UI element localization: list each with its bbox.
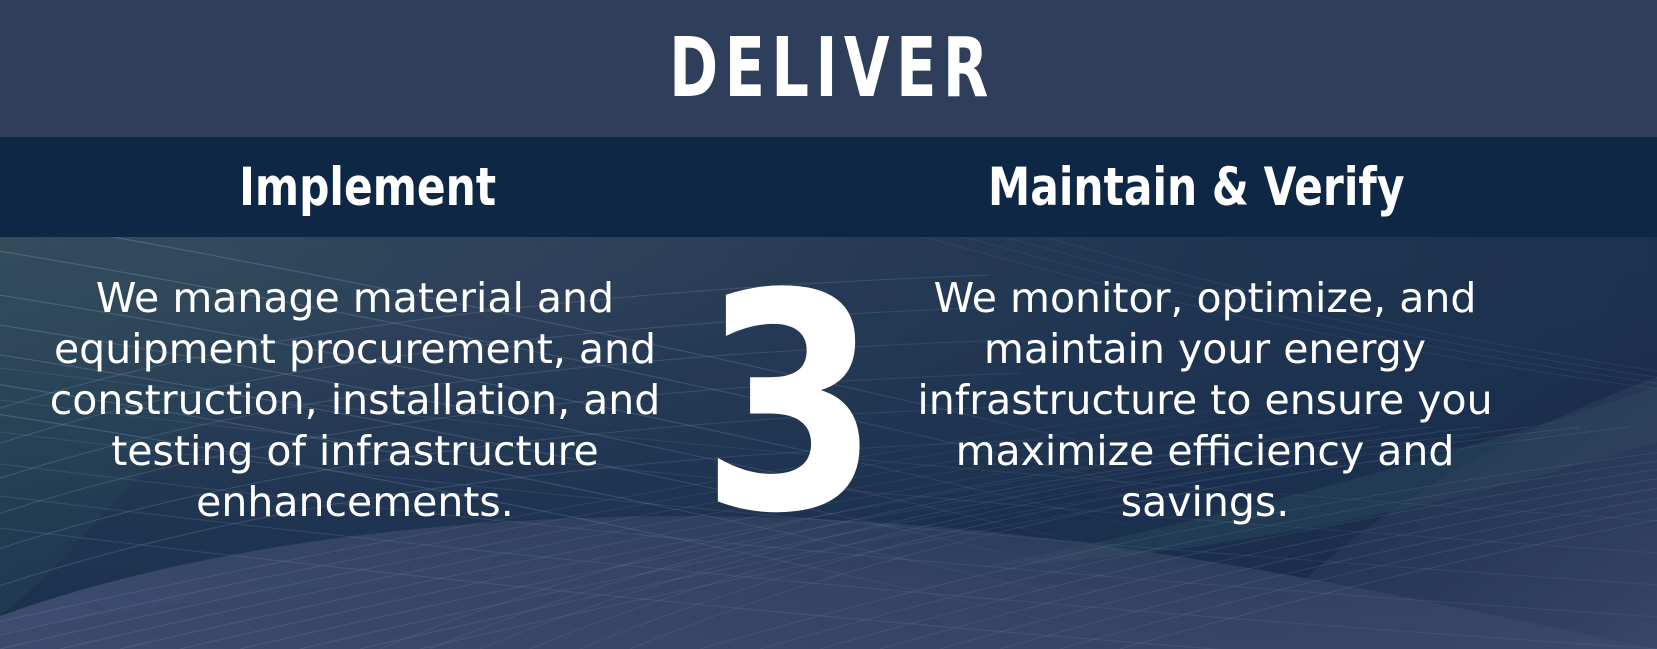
- column-maintain-verify: We monitor, optimize, and maintain your …: [900, 237, 1510, 649]
- title-band: DELIVER: [0, 0, 1657, 137]
- subheader-band: Implement Maintain & Verify: [0, 137, 1657, 237]
- subheader-column-implement: Implement: [0, 137, 735, 237]
- step-number: 3: [701, 255, 856, 555]
- body-content: We manage material and equipment procure…: [0, 237, 1657, 649]
- body-area: We manage material and equipment procure…: [0, 237, 1657, 649]
- deliver-infographic: DELIVER Implement Maintain & Verify: [0, 0, 1657, 649]
- column-heading-maintain-verify: Maintain & Verify: [988, 161, 1404, 214]
- column-implement: We manage material and equipment procure…: [30, 237, 680, 649]
- page-title: DELIVER: [662, 28, 994, 110]
- column-body-implement: We manage material and equipment procure…: [30, 237, 680, 528]
- subheader-column-maintain-verify: Maintain & Verify: [735, 137, 1657, 237]
- column-heading-implement: Implement: [239, 161, 496, 214]
- column-body-maintain-verify: We monitor, optimize, and maintain your …: [900, 237, 1510, 528]
